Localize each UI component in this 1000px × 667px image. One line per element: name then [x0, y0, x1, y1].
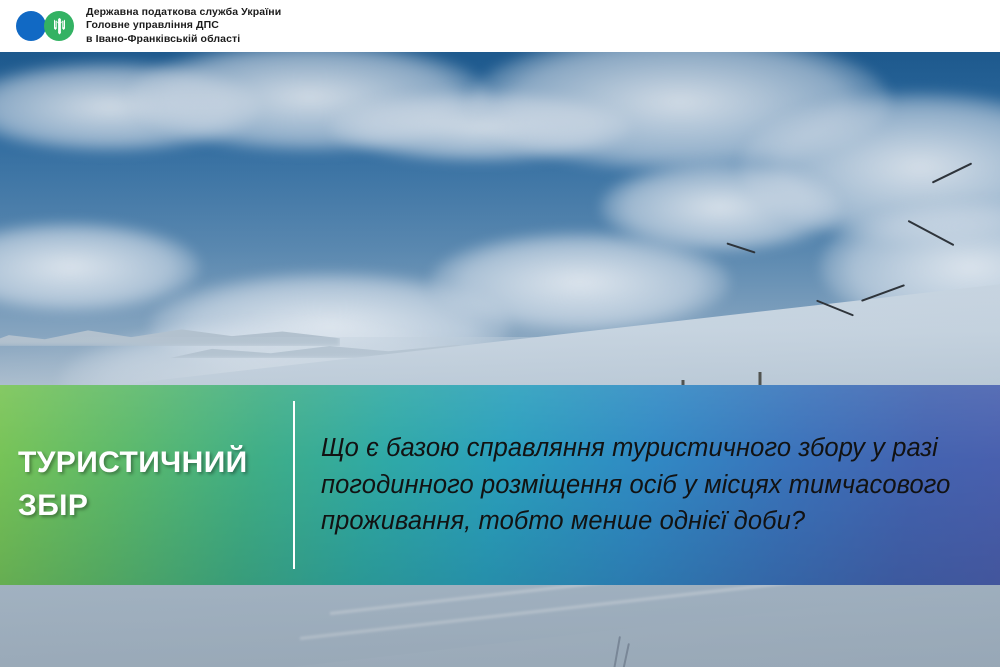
fir-tree-4 — [640, 147, 726, 412]
banner-title: ТУРИСТИЧНИЙ ЗБІР — [18, 442, 293, 527]
site-header: Державна податкова служба України Головн… — [0, 0, 1000, 52]
topic-banner: ТУРИСТИЧНИЙ ЗБІР Що є базою справляння т… — [0, 385, 1000, 585]
fir-tree-bottom-9 — [402, 574, 446, 667]
org-line-2: Головне управління ДПС — [86, 19, 281, 32]
dps-logo-blue-circle — [16, 11, 46, 41]
dps-logo[interactable] — [14, 9, 76, 43]
banner-question-text: Що є базою справляння туристичного збору… — [321, 430, 974, 539]
banner-title-area: ТУРИСТИЧНИЙ ЗБІР — [0, 385, 293, 585]
dps-logo-green-circle — [44, 11, 74, 41]
fir-tree-3 — [900, 52, 1000, 442]
org-line-1: Державна податкова служба України — [86, 6, 281, 19]
infographic-page: Державна податкова служба України Головн… — [0, 0, 1000, 667]
fir-tree-bottom-6 — [268, 576, 322, 667]
fir-tree-bottom-10 — [444, 582, 484, 667]
banner-question-area: Що є базою справляння туристичного збору… — [295, 385, 1000, 585]
org-line-3: в Івано-Франківській області — [86, 33, 281, 46]
fir-tree-bottom-11 — [486, 586, 522, 667]
organization-name: Державна податкова служба України Головн… — [86, 6, 281, 46]
fir-tree-bottom-4 — [158, 574, 216, 667]
ukrainian-trident-icon — [52, 18, 67, 35]
fir-tree-bottom-8 — [360, 580, 406, 667]
